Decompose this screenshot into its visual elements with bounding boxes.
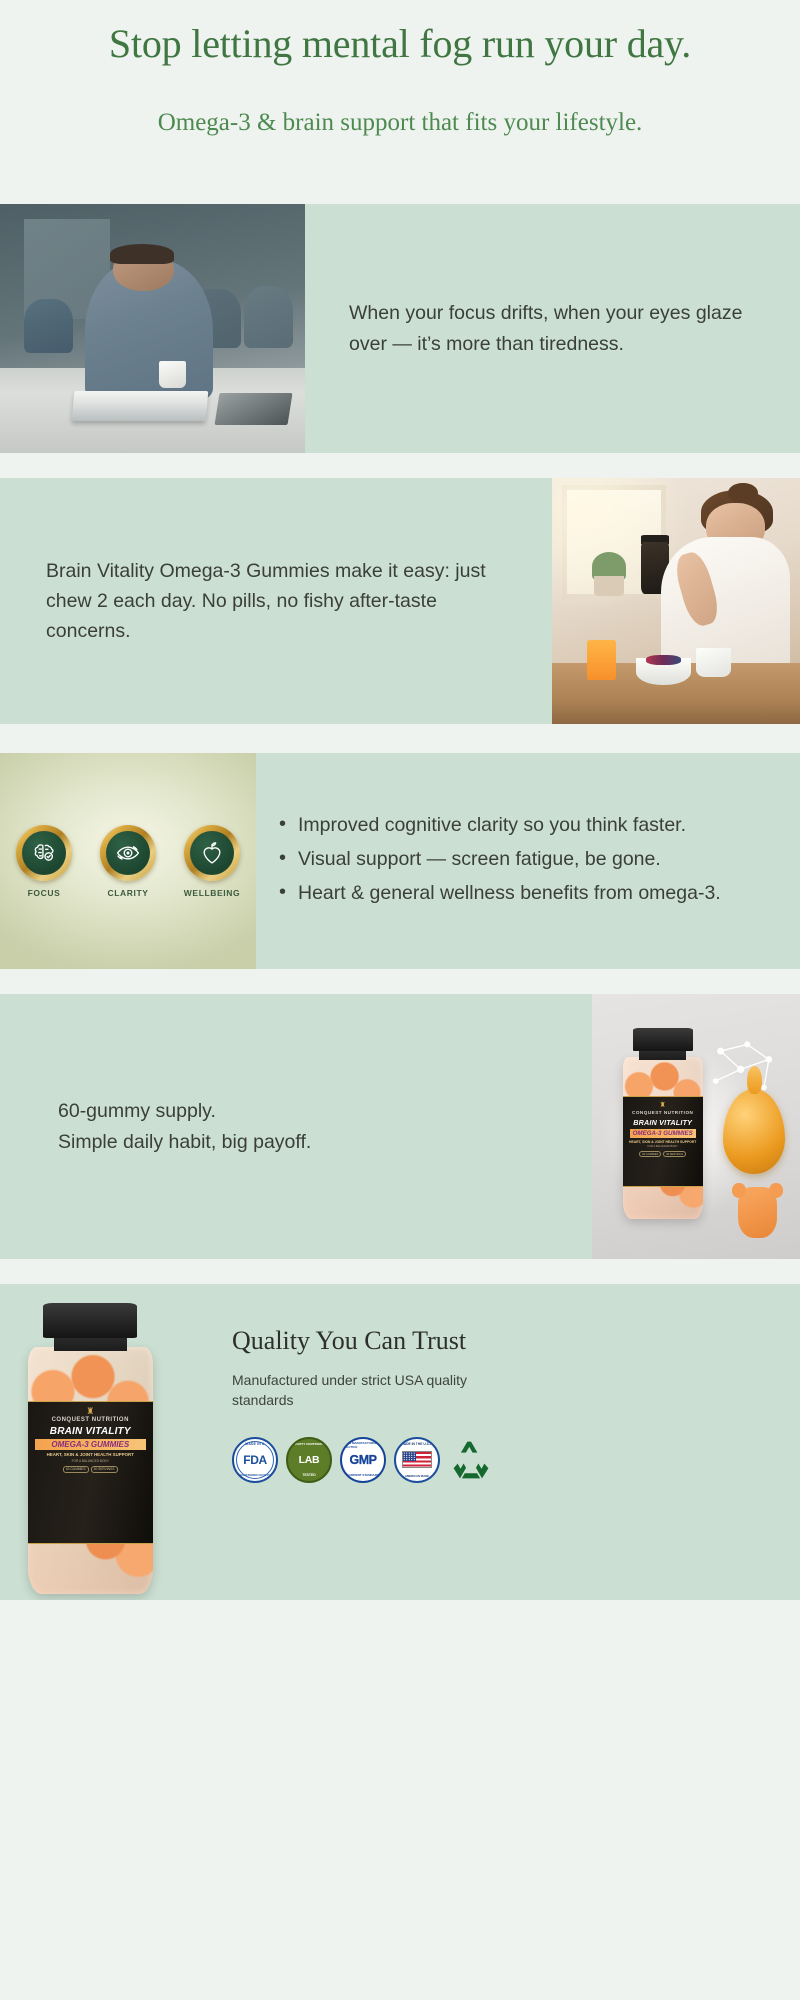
brand-name: CONQUEST NUTRITION	[32, 1417, 149, 1423]
product-label: ♜ CONQUEST NUTRITION BRAIN VITALITY OMEG…	[623, 1096, 703, 1187]
spartan-helmet-icon: ♜	[627, 1102, 699, 1109]
trust-text-wrap: Quality You Can Trust Manufactured under…	[210, 1284, 540, 1600]
product-label: ♜ CONQUEST NUTRITION BRAIN VITALITY OMEG…	[28, 1401, 153, 1544]
recycle-badge	[448, 1437, 494, 1483]
product-claims: HEART, SKIN & JOINT HEALTH SUPPORT	[32, 1452, 149, 1458]
benefit-medal-label: WELLBEING	[181, 888, 243, 898]
trust-title: Quality You Can Trust	[232, 1326, 514, 1356]
section-solution: Brain Vitality Omega-3 Gummies make it e…	[0, 478, 800, 724]
brain-icon	[31, 840, 57, 866]
usa-flag-icon	[402, 1451, 432, 1468]
benefits-list: Improved cognitive clarity so you think …	[276, 810, 770, 913]
benefit-medal-focus: FOCUS	[13, 825, 75, 898]
medal-ring	[100, 825, 156, 881]
bottle-cap	[43, 1303, 137, 1338]
badge-bottom-text: TESTED	[302, 1473, 315, 1477]
benefit-medals-panel: FOCUS CL	[0, 753, 256, 969]
page-title: Stop letting mental fog run your day.	[70, 22, 730, 67]
product-variant: OMEGA-3 GUMMIES	[630, 1129, 696, 1138]
product-bottle: ♜ CONQUEST NUTRITION BRAIN VITALITY OMEG…	[25, 1303, 155, 1594]
product-fine-print: FOR A BALANCED BODY	[627, 1145, 699, 1148]
product-name: BRAIN VITALITY	[32, 1426, 149, 1437]
list-item: Heart & general wellness benefits from o…	[276, 878, 770, 908]
section-supply-line2: Simple daily habit, big payoff.	[58, 1127, 562, 1157]
spartan-helmet-icon: ♜	[32, 1407, 149, 1416]
section-supply: 60-gummy supply. Simple daily habit, big…	[0, 994, 800, 1259]
section-problem-text-wrap: When your focus drifts, when your eyes g…	[305, 204, 800, 453]
bottle-with-oil-drop-photo: ♜ CONQUEST NUTRITION BRAIN VITALITY OMEG…	[592, 994, 800, 1259]
eye-icon	[115, 840, 141, 866]
trust-subtitle: Manufactured under strict USA quality st…	[232, 1370, 514, 1411]
section-solution-text: Brain Vitality Omega-3 Gummies make it e…	[46, 556, 518, 647]
product-variant: OMEGA-3 GUMMIES	[35, 1439, 146, 1450]
servings-pill: 30 SERVINGS	[663, 1151, 686, 1157]
product-claims: HEART, SKIN & JOINT HEALTH SUPPORT	[627, 1140, 699, 1144]
made-in-usa-badge: MADE IN THE U.S.A. AMERICAN MADE	[394, 1437, 440, 1483]
benefit-medal-label: FOCUS	[13, 888, 75, 898]
product-name: BRAIN VITALITY	[627, 1118, 699, 1127]
count-pill: 60 GUMMIES	[639, 1151, 661, 1157]
woman-eating-gummy-photo	[552, 478, 800, 724]
medal-ring	[184, 825, 240, 881]
badge-main-text: GMP	[350, 1453, 377, 1467]
badge-main-text: LAB	[299, 1454, 320, 1466]
heart-apple-icon	[199, 840, 225, 866]
bottle-cap	[633, 1028, 693, 1051]
badge-top-text: MADE IN A	[245, 1442, 264, 1446]
badge-top-text: MADE IN THE U.S.A.	[401, 1442, 433, 1446]
recycle-icon	[449, 1438, 493, 1482]
section-problem-text: When your focus drifts, when your eyes g…	[349, 298, 764, 358]
gummy-bear-graphic	[738, 1187, 778, 1237]
badge-bottom-text: AMERICAN MADE	[405, 1474, 429, 1478]
benefit-medal-wellbeing: WELLBEING	[181, 825, 243, 898]
gmp-certified-badge: GOOD MANUFACTURING PRACTICE GMP CURRENT …	[340, 1437, 386, 1483]
badge-bottom-text: REGISTERED FACILITY	[238, 1473, 272, 1477]
hero-section: Stop letting mental fog run your day. Om…	[0, 0, 800, 138]
trust-badges-row: MADE IN A FDA REGISTERED FACILITY 3RD PA…	[232, 1437, 514, 1483]
product-bottle-photo-large: ♜ CONQUEST NUTRITION BRAIN VITALITY OMEG…	[0, 1284, 210, 1600]
product-fine-print: FOR A BALANCED BODY	[32, 1459, 149, 1463]
section-trust: ♜ CONQUEST NUTRITION BRAIN VITALITY OMEG…	[0, 1284, 800, 1600]
benefit-medal-clarity: CLARITY	[97, 825, 159, 898]
section-supply-text-wrap: 60-gummy supply. Simple daily habit, big…	[0, 994, 592, 1259]
brand-name: CONQUEST NUTRITION	[627, 1110, 699, 1115]
list-item: Visual support — screen fatigue, be gone…	[276, 844, 770, 874]
lab-tested-badge: 3RD PARTY CERTIFIED FOR LAB TESTED	[286, 1437, 332, 1483]
section-solution-text-wrap: Brain Vitality Omega-3 Gummies make it e…	[0, 478, 552, 724]
badge-bottom-text: CURRENT STANDARD	[347, 1473, 379, 1477]
badge-top-text: GOOD MANUFACTURING PRACTICE	[342, 1441, 384, 1449]
section-supply-line1: 60-gummy supply.	[58, 1096, 562, 1126]
count-pill: 60 GUMMIES	[63, 1466, 89, 1473]
servings-pill: 30 SERVINGS	[91, 1466, 118, 1473]
fda-registered-badge: MADE IN A FDA REGISTERED FACILITY	[232, 1437, 278, 1483]
section-problem: When your focus drifts, when your eyes g…	[0, 204, 800, 453]
infographic-page: Stop letting mental fog run your day. Om…	[0, 0, 800, 2000]
benefit-medal-label: CLARITY	[97, 888, 159, 898]
page-subtitle: Omega-3 & brain support that fits your l…	[70, 107, 730, 138]
section-benefits: FOCUS CL	[0, 753, 800, 969]
section-benefits-text-wrap: Improved cognitive clarity so you think …	[256, 753, 800, 969]
product-bottle: ♜ CONQUEST NUTRITION BRAIN VITALITY OMEG…	[621, 1028, 704, 1219]
badge-top-text: 3RD PARTY CERTIFIED FOR	[288, 1442, 330, 1446]
list-item: Improved cognitive clarity so you think …	[276, 810, 770, 840]
medal-ring	[16, 825, 72, 881]
tired-man-at-meeting-photo	[0, 204, 305, 453]
